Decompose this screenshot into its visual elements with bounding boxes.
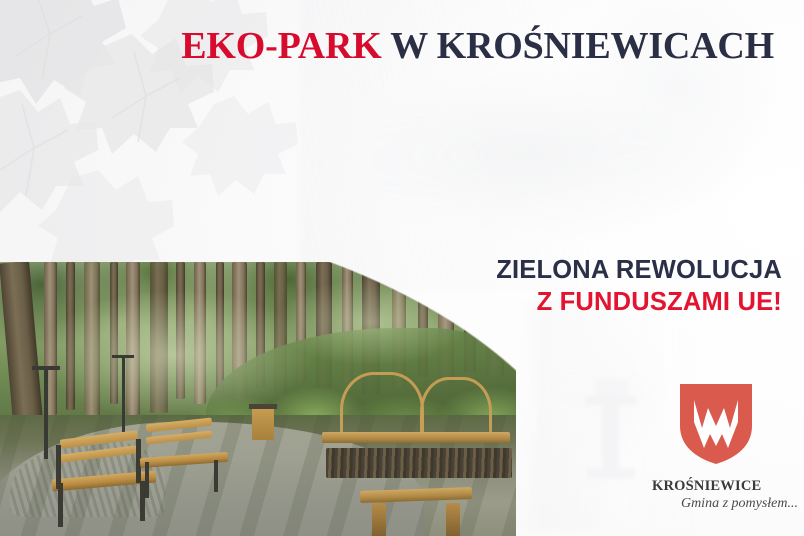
lamp-post-icon <box>122 355 125 432</box>
background-monument-watermark <box>585 378 637 490</box>
park-bench-icon <box>140 421 232 503</box>
logo-tagline: Gmina z pomysłem... <box>648 496 804 512</box>
logo-municipality-name: KROŚNIEWICE <box>648 478 802 495</box>
table-leg <box>372 503 386 536</box>
headline-rest: W KROŚNIEWICACH <box>382 25 774 67</box>
wooden-deck <box>322 432 510 443</box>
subtitle-line-2: Z FUNDUSZAMI UE! <box>496 286 782 318</box>
lamp-post-icon <box>44 366 48 459</box>
poster-subtitle: ZIELONA REWOLUCJA Z FUNDUSZAMI UE! <box>496 254 782 318</box>
pergola-icon <box>340 372 424 435</box>
headline-accent: EKO-PARK <box>181 25 381 67</box>
kroniewice-coat-of-arms-icon <box>678 382 754 466</box>
table-leg <box>446 503 460 536</box>
municipal-logo: KROŚNIEWICE Gmina z pomysłem... <box>648 382 798 520</box>
park-photo <box>0 262 516 536</box>
poster-headline: EKO-PARK W KROŚNIEWICACH <box>0 27 774 65</box>
poster-canvas: EKO-PARK W KROŚNIEWICACH ZIELONA REWOLUC… <box>0 0 804 536</box>
waste-bin-icon <box>252 407 274 440</box>
wicker-wall <box>326 448 512 478</box>
pergola-icon <box>420 377 492 435</box>
subtitle-line-1: ZIELONA REWOLUCJA <box>496 254 782 286</box>
